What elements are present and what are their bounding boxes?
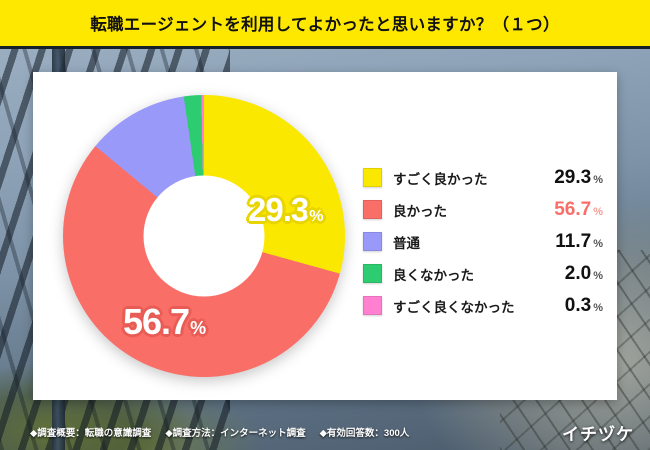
- slice-label-value: 56.7: [123, 301, 189, 342]
- legend-swatch-icon: [363, 200, 382, 219]
- donut-center-hole: [144, 176, 265, 297]
- legend-item-label: 普通: [393, 232, 535, 252]
- slice-label-sugoku-yokatta: 29.3%: [248, 193, 323, 226]
- legend-item-value: 0.3%: [535, 295, 603, 317]
- legend-value-number: 29.3: [554, 167, 591, 188]
- legend-item-yokunakatta: 良くなかった 2.0%: [363, 260, 603, 287]
- legend-item-value: 56.7%: [535, 199, 603, 221]
- chart-legend: すごく良かった 29.3% 良かった 56.7% 普通 11.7% 良くなかった…: [363, 164, 603, 324]
- legend-value-number: 11.7: [555, 231, 591, 252]
- legend-item-yokatta: 良かった 56.7%: [363, 196, 603, 223]
- slice-label-percent-symbol: %: [309, 208, 323, 225]
- legend-percent-symbol: %: [593, 238, 603, 250]
- legend-value-number: 56.7: [554, 199, 591, 220]
- legend-value-number: 2.0: [565, 263, 591, 284]
- legend-percent-symbol: %: [593, 270, 603, 282]
- legend-swatch-icon: [363, 168, 382, 187]
- footer-note-count: ◆有効回答数：300人: [320, 428, 410, 439]
- legend-percent-symbol: %: [593, 206, 603, 218]
- slice-label-yokatta: 56.7%: [123, 304, 206, 340]
- legend-item-futsuu: 普通 11.7%: [363, 228, 603, 255]
- footer-note-method: ◆調査方法：インターネット調査: [165, 428, 305, 439]
- legend-item-value: 2.0%: [535, 263, 603, 285]
- legend-item-value: 11.7%: [535, 231, 603, 253]
- chart-card: 29.3% 56.7% すごく良かった 29.3% 良かった 56.7% 普通 …: [33, 72, 617, 400]
- slice-label-value: 29.3: [248, 191, 308, 228]
- brand-logo: イチヅケ: [562, 420, 634, 445]
- page-title: 転職エージェントを利用してよかったと思いますか？（１つ）: [90, 11, 560, 35]
- legend-value-number: 0.3: [565, 295, 591, 316]
- donut-chart: 29.3% 56.7%: [63, 95, 345, 377]
- legend-item-label: 良くなかった: [393, 264, 535, 284]
- legend-item-value: 29.3%: [535, 167, 603, 189]
- legend-item-label: すごく良くなかった: [393, 296, 535, 316]
- legend-item-label: すごく良かった: [393, 168, 535, 188]
- footer-notes: ◆調査概要：転職の意識調査◆調査方法：インターネット調査◆有効回答数：300人: [30, 425, 423, 439]
- legend-item-sugoku-yokatta: すごく良かった 29.3%: [363, 164, 603, 191]
- legend-percent-symbol: %: [593, 174, 603, 186]
- title-bar: 転職エージェントを利用してよかったと思いますか？（１つ）: [0, 0, 650, 46]
- screenshot-root: 転職エージェントを利用してよかったと思いますか？（１つ） 29.3% 56.7%…: [0, 0, 650, 450]
- title-bar-underline: [0, 46, 650, 49]
- legend-swatch-icon: [363, 232, 382, 251]
- legend-swatch-icon: [363, 296, 382, 315]
- legend-swatch-icon: [363, 264, 382, 283]
- legend-item-sugoku-yokunakatta: すごく良くなかった 0.3%: [363, 292, 603, 319]
- slice-label-percent-symbol: %: [190, 318, 206, 338]
- legend-percent-symbol: %: [593, 302, 603, 314]
- legend-item-label: 良かった: [393, 200, 535, 220]
- footer-bar: ◆調査概要：転職の意識調査◆調査方法：インターネット調査◆有効回答数：300人 …: [0, 414, 650, 450]
- footer-note-survey: ◆調査概要：転職の意識調査: [30, 428, 151, 439]
